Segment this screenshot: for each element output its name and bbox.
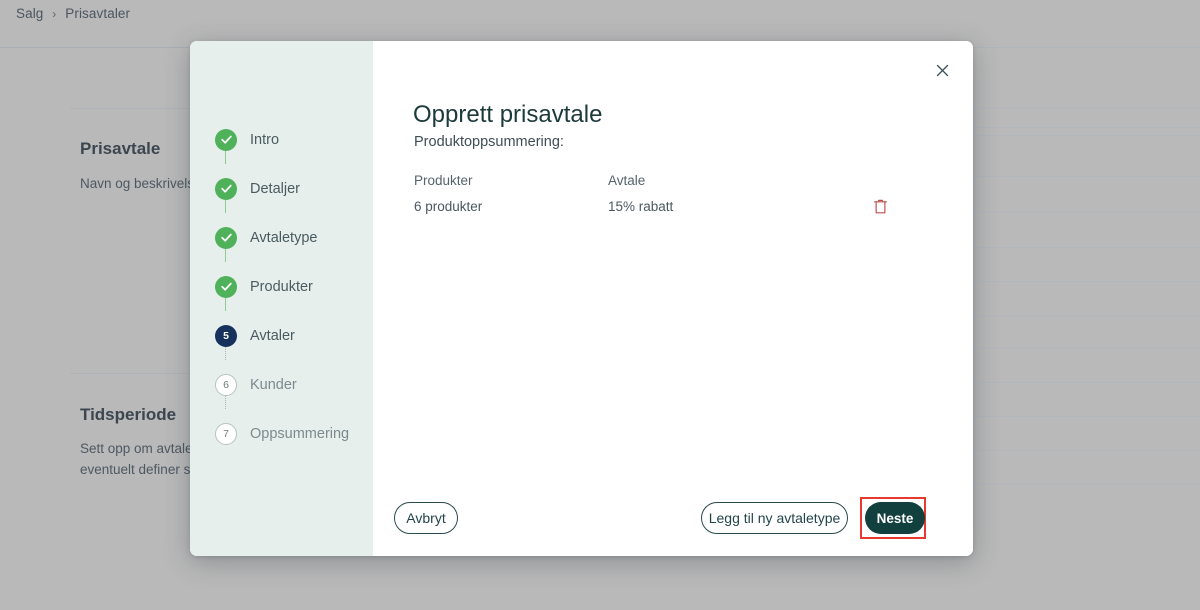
step-number-badge: 5: [215, 325, 237, 347]
stepper-item-label: Intro: [250, 132, 279, 148]
background-divider: [970, 450, 1200, 451]
breadcrumb-item-salg[interactable]: Salg: [16, 6, 43, 21]
step-number-badge: 7: [215, 423, 237, 445]
step-check-icon: [215, 276, 237, 298]
background-divider: [970, 281, 1200, 282]
stepper-item-intro[interactable]: Intro: [190, 115, 373, 164]
dialog-footer: Avbryt Legg til ny avtaletype Neste: [373, 478, 973, 556]
background-divider: [970, 127, 1200, 128]
breadcrumb-separator-icon: ›: [52, 7, 56, 21]
stepper-item-oppsummering[interactable]: 7 Oppsummering: [190, 409, 373, 458]
background-section-title-prisavtale: Prisavtale: [80, 139, 160, 159]
next-button[interactable]: Neste: [865, 502, 925, 534]
stepper-item-label: Detaljer: [250, 181, 300, 197]
stepper-item-label: Produkter: [250, 279, 313, 295]
dialog-content: Opprett prisavtale Produktoppsummering: …: [373, 41, 973, 556]
page-title: Opprett prisavtale: [413, 101, 602, 129]
cell-produkter: 6 produkter: [414, 199, 608, 214]
breadcrumb: Salg › Prisavtaler: [16, 6, 130, 21]
stepper-item-produkter[interactable]: Produkter: [190, 262, 373, 311]
product-summary-table: Produkter Avtale 6 produkter 15% rabatt: [414, 167, 934, 219]
stepper-item-label: Avtaletype: [250, 230, 317, 246]
table-row: 6 produkter 15% rabatt: [414, 193, 934, 219]
background-divider: [70, 108, 190, 109]
stepper-item-avtaletype[interactable]: Avtaletype: [190, 213, 373, 262]
background-divider: [970, 348, 1200, 349]
background-divider: [970, 108, 1200, 109]
step-number-badge: 6: [215, 374, 237, 396]
create-price-agreement-dialog: Intro Detaljer Avtaletype Produkter 5 Av…: [190, 41, 973, 556]
summary-label: Produktoppsummering:: [414, 134, 564, 150]
trash-icon[interactable]: [868, 194, 892, 218]
cell-avtale: 15% rabatt: [608, 199, 868, 214]
background-divider: [970, 315, 1200, 316]
background-section-title-tidsperiode: Tidsperiode: [80, 405, 176, 425]
background-divider: [970, 135, 1200, 136]
background-divider: [970, 176, 1200, 177]
column-header-avtale: Avtale: [608, 173, 868, 188]
background-divider: [970, 211, 1200, 212]
add-agreement-type-button[interactable]: Legg til ny avtaletype: [701, 502, 848, 534]
background-divider: [970, 247, 1200, 248]
background-divider: [970, 484, 1200, 485]
stepper-item-detaljer[interactable]: Detaljer: [190, 164, 373, 213]
stepper-item-label: Kunder: [250, 377, 297, 393]
step-check-icon: [215, 129, 237, 151]
column-header-produkter: Produkter: [414, 173, 608, 188]
cancel-button[interactable]: Avbryt: [394, 502, 458, 534]
stepper-item-avtaler[interactable]: 5 Avtaler: [190, 311, 373, 360]
step-check-icon: [215, 227, 237, 249]
background-section-text-tidsperiode-line1: Sett opp om avtale: [80, 438, 193, 459]
background-divider: [970, 382, 1200, 383]
wizard-stepper: Intro Detaljer Avtaletype Produkter 5 Av…: [190, 41, 373, 556]
stepper-item-kunder[interactable]: 6 Kunder: [190, 360, 373, 409]
step-check-icon: [215, 178, 237, 200]
table-header-row: Produkter Avtale: [414, 167, 934, 193]
background-section-text-prisavtale: Navn og beskrivels: [80, 173, 194, 194]
background-divider: [970, 416, 1200, 417]
background-section-text-tidsperiode-line2: eventuelt definer st: [80, 459, 194, 480]
close-icon[interactable]: [929, 57, 955, 83]
background-divider: [70, 373, 190, 374]
background-divider: [970, 47, 1200, 48]
stepper-item-label: Oppsummering: [250, 426, 349, 442]
stepper-item-label: Avtaler: [250, 328, 295, 344]
breadcrumb-item-prisavtaler[interactable]: Prisavtaler: [65, 6, 130, 21]
next-button-focus-ring: Neste: [860, 497, 926, 539]
